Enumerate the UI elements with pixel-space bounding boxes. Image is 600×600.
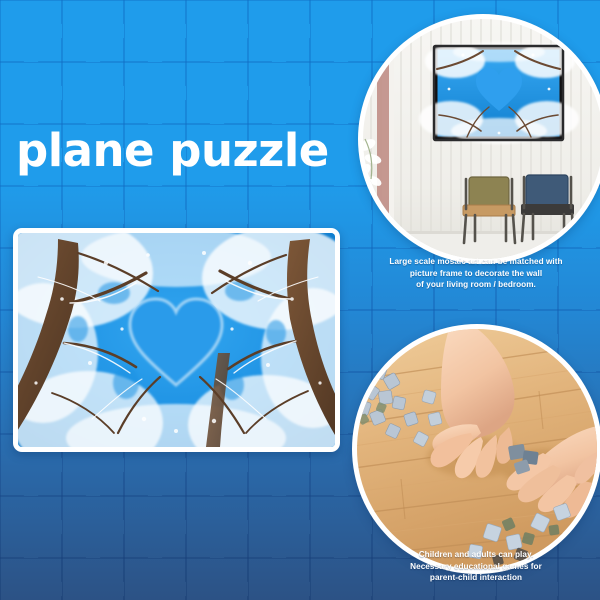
caption-line: Large scale mosaic art can be matched wi… <box>352 256 600 268</box>
feature-image-family-play <box>352 324 600 574</box>
caption-line: of your living room / bedroom. <box>352 279 600 291</box>
hero-photo-image <box>18 233 335 447</box>
feature-image-room-decor <box>358 14 600 264</box>
hero-photo-frame <box>13 228 340 452</box>
product-poster: plane puzzle <box>0 0 600 600</box>
feature-image-room-decor-inner <box>363 19 600 259</box>
feature-caption-family-play: Children and adults can play. Necessary … <box>352 549 600 584</box>
feature-image-family-play-inner <box>357 329 597 569</box>
caption-line: Necessary educational games for <box>352 561 600 573</box>
caption-line: Children and adults can play. <box>352 549 600 561</box>
frost-trees-heart-sky-illustration <box>18 233 335 447</box>
door-trim <box>377 19 389 259</box>
framed-puzzle-on-wall-illustration <box>363 19 600 259</box>
caption-line: parent-child interaction <box>352 572 600 584</box>
caption-line: picture frame to decorate the wall <box>352 268 600 280</box>
page-title: plane puzzle <box>16 128 329 173</box>
wall-picture-frame <box>419 42 579 144</box>
hands-puzzle-wood-floor-illustration <box>357 329 597 569</box>
feature-caption-room-decor: Large scale mosaic art can be matched wi… <box>352 256 600 291</box>
